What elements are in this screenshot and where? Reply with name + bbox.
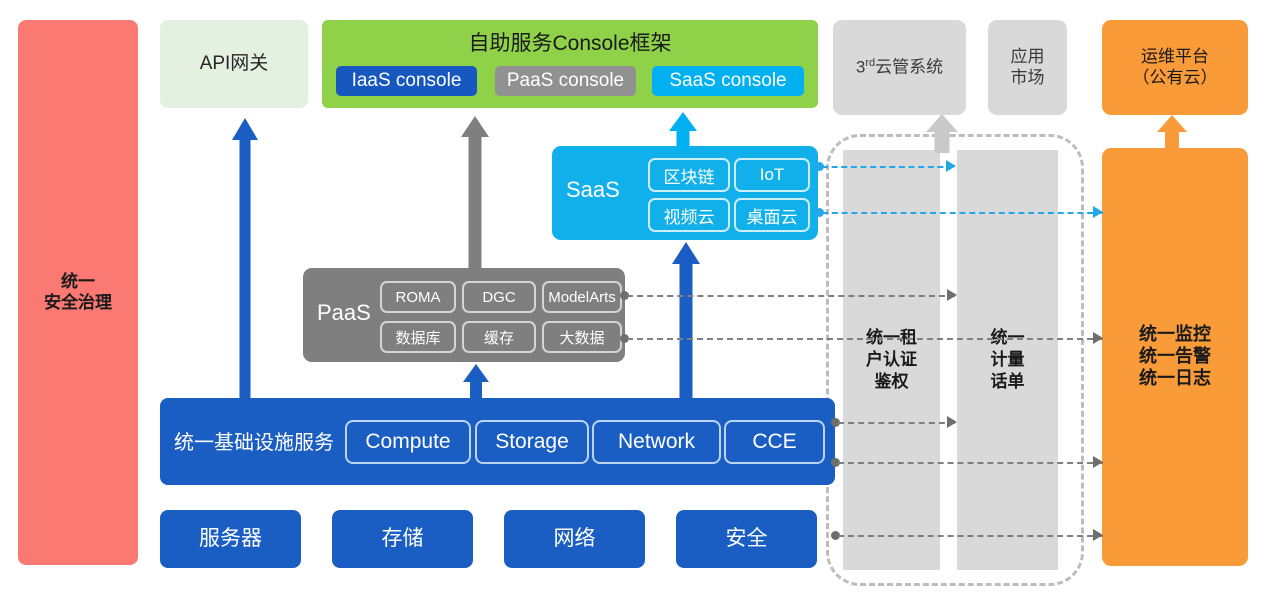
connector-arrowhead-iaas-auth bbox=[947, 416, 957, 428]
paas-label: PaaS bbox=[317, 300, 371, 326]
iaas-infrastructure-bar: 统一基础设施服务 Compute Storage Network CCE bbox=[160, 398, 835, 485]
third-party-cloud-mgmt-box: 3rd云管系统 bbox=[833, 20, 966, 115]
infra-box-security[interactable]: 安全 bbox=[676, 510, 817, 568]
paas-item-dgc[interactable]: DGC bbox=[462, 281, 536, 313]
iaas-item-cce[interactable]: CCE bbox=[724, 420, 825, 464]
chip-paas-console[interactable]: PaaS console bbox=[495, 66, 636, 96]
connector-arrowhead-infra-ops bbox=[1093, 529, 1103, 541]
arrow-saas-to-console bbox=[669, 112, 697, 150]
saas-item-desktop-cloud[interactable]: 桌面云 bbox=[734, 198, 810, 232]
paas-item-roma[interactable]: ROMA bbox=[380, 281, 456, 313]
infra-box-network[interactable]: 网络 bbox=[504, 510, 645, 568]
arrow-iaas-to-paas bbox=[463, 364, 489, 400]
arrow-iaas-to-saas bbox=[672, 242, 700, 400]
iaas-label: 统一基础设施服务 bbox=[174, 426, 334, 455]
paas-item-cache[interactable]: 缓存 bbox=[462, 321, 536, 353]
arrow-ops-to-ops-panel bbox=[1157, 115, 1187, 151]
arrow-paas-to-console bbox=[461, 116, 489, 270]
security-governance-line1: 统一 bbox=[44, 272, 112, 293]
connector-arrowhead-iaas-ops bbox=[1093, 456, 1103, 468]
billing-line2: 计量 bbox=[957, 349, 1058, 371]
auth-line2: 户认证 bbox=[843, 349, 940, 371]
paas-block: PaaS ROMA DGC ModelArts 数据库 缓存 大数据 bbox=[303, 268, 625, 362]
paas-item-modelarts[interactable]: ModelArts bbox=[542, 281, 622, 313]
saas-block: SaaS 区块链 IoT 视频云 桌面云 bbox=[552, 146, 818, 240]
saas-label: SaaS bbox=[566, 177, 620, 203]
app-market-box: 应用 市场 bbox=[988, 20, 1067, 115]
iaas-item-storage[interactable]: Storage bbox=[475, 420, 589, 464]
api-gateway-box: API网关 bbox=[160, 20, 308, 108]
paas-item-database[interactable]: 数据库 bbox=[380, 321, 456, 353]
ops-panel-line2: 统一告警 bbox=[1139, 346, 1211, 368]
saas-item-video-cloud[interactable]: 视频云 bbox=[648, 198, 730, 232]
iaas-item-compute[interactable]: Compute bbox=[345, 420, 471, 464]
paas-item-bigdata[interactable]: 大数据 bbox=[542, 321, 622, 353]
infra-box-server[interactable]: 服务器 bbox=[160, 510, 301, 568]
connector-saas-to-ops bbox=[822, 212, 1103, 214]
security-governance-line2: 安全治理 bbox=[44, 293, 112, 314]
third-party-superscript: rd bbox=[865, 57, 875, 69]
connector-paas-to-ops bbox=[627, 338, 1103, 340]
auth-line3: 鉴权 bbox=[843, 371, 940, 393]
connector-arrowhead-saas-auth bbox=[946, 160, 956, 172]
api-gateway-label: API网关 bbox=[200, 52, 269, 75]
arrow-iaas-to-api-gateway bbox=[232, 118, 258, 398]
ops-panel-line3: 统一日志 bbox=[1139, 368, 1211, 390]
arrow-shared-to-third-party bbox=[926, 114, 958, 152]
connector-iaas-to-ops bbox=[838, 462, 1103, 464]
ops-platform-line2: （公有云） bbox=[1133, 68, 1218, 89]
infra-box-storage[interactable]: 存储 bbox=[332, 510, 473, 568]
saas-item-blockchain[interactable]: 区块链 bbox=[648, 158, 730, 192]
iaas-item-network[interactable]: Network bbox=[592, 420, 721, 464]
ops-panel-line1: 统一监控 bbox=[1139, 324, 1211, 346]
connector-saas-to-auth bbox=[822, 166, 953, 168]
security-governance-panel: 统一 安全治理 bbox=[18, 20, 138, 565]
architecture-diagram: 统一 安全治理 API网关 自助服务Console框架 IaaS console… bbox=[0, 0, 1265, 605]
third-party-suffix: 云管系统 bbox=[875, 57, 943, 76]
chip-iaas-console[interactable]: IaaS console bbox=[336, 66, 477, 96]
console-framework-box: 自助服务Console框架 IaaS console PaaS console … bbox=[322, 20, 818, 108]
app-market-line1: 应用 bbox=[1011, 47, 1045, 68]
ops-platform-box: 运维平台 （公有云） bbox=[1102, 20, 1248, 115]
connector-infra-to-ops bbox=[838, 535, 1103, 537]
app-market-line2: 市场 bbox=[1011, 68, 1045, 89]
ops-platform-line1: 运维平台 bbox=[1133, 47, 1218, 68]
third-party-prefix: 3 bbox=[856, 57, 865, 76]
connector-iaas-to-auth bbox=[838, 422, 955, 424]
connector-arrowhead-paas-ops bbox=[1093, 332, 1103, 344]
console-framework-title: 自助服务Console框架 bbox=[322, 27, 818, 57]
billing-line3: 话单 bbox=[957, 371, 1058, 393]
ops-monitoring-panel: 统一监控 统一告警 统一日志 bbox=[1102, 148, 1248, 566]
connector-paas-to-auth bbox=[627, 295, 955, 297]
saas-item-iot[interactable]: IoT bbox=[734, 158, 810, 192]
connector-arrowhead-paas-auth bbox=[947, 289, 957, 301]
connector-arrowhead-saas-ops bbox=[1093, 206, 1103, 218]
chip-saas-console[interactable]: SaaS console bbox=[652, 66, 804, 96]
